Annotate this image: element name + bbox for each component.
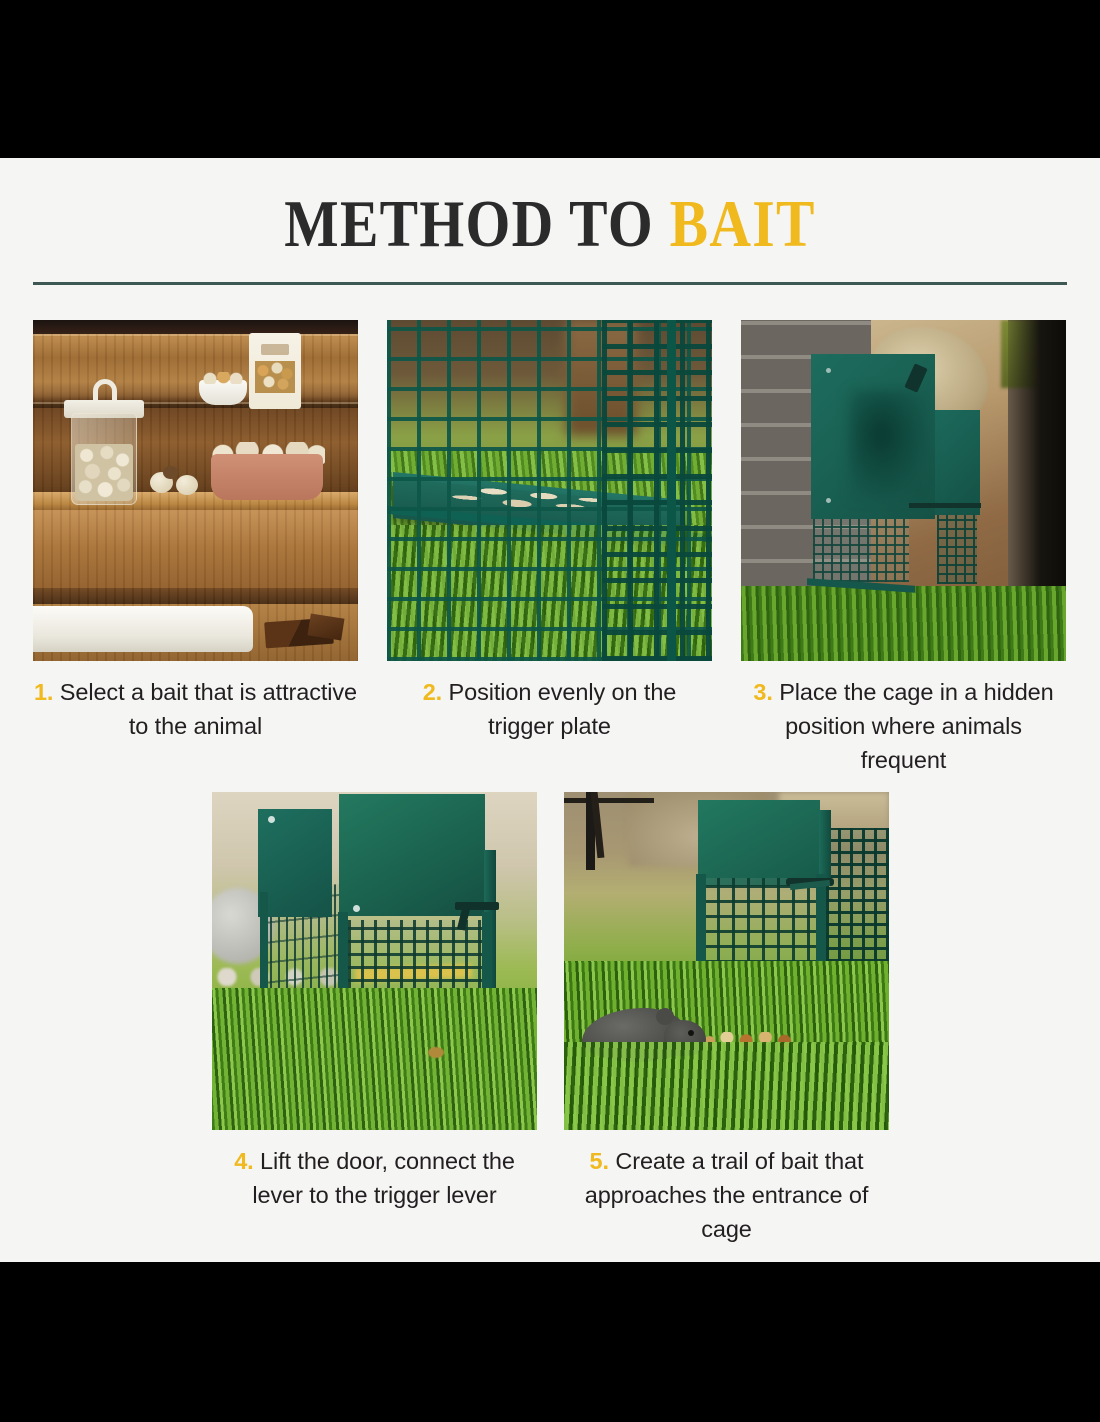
step-2-photo: [387, 320, 712, 661]
door-screw: [268, 816, 275, 823]
step-5-caption: 5. Create a trail of bait that approache…: [564, 1144, 889, 1246]
pouch-window-nuts: [255, 361, 295, 393]
rodent-eye: [688, 1030, 694, 1036]
step-card-5: 5. Create a trail of bait that approache…: [564, 792, 889, 1246]
infographic-canvas: METHOD TO BAIT: [0, 158, 1100, 1262]
step-card-4: 4. Lift the door, connect the lever to t…: [212, 792, 537, 1246]
step-3-caption: 3. Place the cage in a hidden position w…: [741, 675, 1066, 777]
background-rail: [564, 798, 654, 803]
title-accent: BAIT: [670, 187, 816, 261]
step-2-number: 2.: [423, 679, 442, 705]
step-1-number: 1.: [34, 679, 53, 705]
grass-foreground: [564, 1042, 889, 1130]
cage-door-small: [933, 410, 980, 515]
cage-door-lifted: [339, 794, 485, 916]
steps-row-top: 1. Select a bait that is attractive to t…: [33, 320, 1067, 777]
title-divider: [33, 282, 1067, 285]
grass-layer: [212, 988, 537, 1130]
page-root: METHOD TO BAIT: [0, 0, 1100, 1422]
loose-nut: [176, 475, 198, 495]
step-card-1: 1. Select a bait that is attractive to t…: [33, 320, 358, 777]
cage-door-lifted: [698, 800, 820, 886]
step-2-text: Position evenly on the trigger plate: [449, 679, 677, 739]
step-5-photo: [564, 792, 889, 1130]
steps-row-bottom: 4. Lift the door, connect the lever to t…: [212, 792, 889, 1246]
grass-layer: [741, 586, 1066, 661]
small-bowl-nuts: [201, 372, 246, 384]
step-card-2: 2. Position evenly on the trigger plate: [387, 320, 712, 777]
pouch-label: [261, 344, 289, 355]
step-3-photo: [741, 320, 1066, 661]
step-4-text: Lift the door, connect the lever to the …: [252, 1148, 514, 1208]
step-1-caption: 1. Select a bait that is attractive to t…: [33, 675, 358, 743]
glass-jar: [71, 413, 137, 505]
letterbox-bottom: [0, 1262, 1100, 1422]
step-card-3: 3. Place the cage in a hidden position w…: [741, 320, 1066, 777]
door-screw: [826, 368, 831, 373]
cage-door-rear: [258, 809, 332, 917]
title-main: METHOD TO: [284, 187, 654, 261]
step-2-caption: 2. Position evenly on the trigger plate: [387, 675, 712, 743]
step-1-text: Select a bait that is attractive to the …: [60, 679, 357, 739]
jar-nuts: [75, 444, 133, 501]
letterbox-top: [0, 0, 1100, 158]
step-3-text: Place the cage in a hidden position wher…: [779, 679, 1053, 773]
step-4-number: 4.: [234, 1148, 253, 1174]
page-title: METHOD TO BAIT: [0, 184, 1100, 264]
step-3-number: 3.: [753, 679, 772, 705]
step-4-caption: 4. Lift the door, connect the lever to t…: [212, 1144, 537, 1212]
step-1-photo: [33, 320, 358, 661]
step-5-text: Create a trail of bait that approaches t…: [585, 1148, 869, 1242]
step-5-number: 5.: [590, 1148, 609, 1174]
cage-post: [667, 320, 676, 661]
white-tray: [33, 606, 253, 652]
trigger-bar: [909, 503, 981, 508]
terracotta-bowl: [211, 454, 323, 500]
cage-wire-mesh-side: [602, 320, 713, 661]
foliage-shadow: [849, 390, 929, 500]
door-screw: [826, 498, 831, 503]
cage-wire-mesh: [813, 516, 909, 582]
fallen-leaf: [428, 1047, 444, 1058]
loose-nut-dark: [163, 466, 178, 479]
step-4-photo: [212, 792, 537, 1130]
door-screw: [353, 905, 360, 912]
cage-door-edge: [819, 810, 831, 884]
